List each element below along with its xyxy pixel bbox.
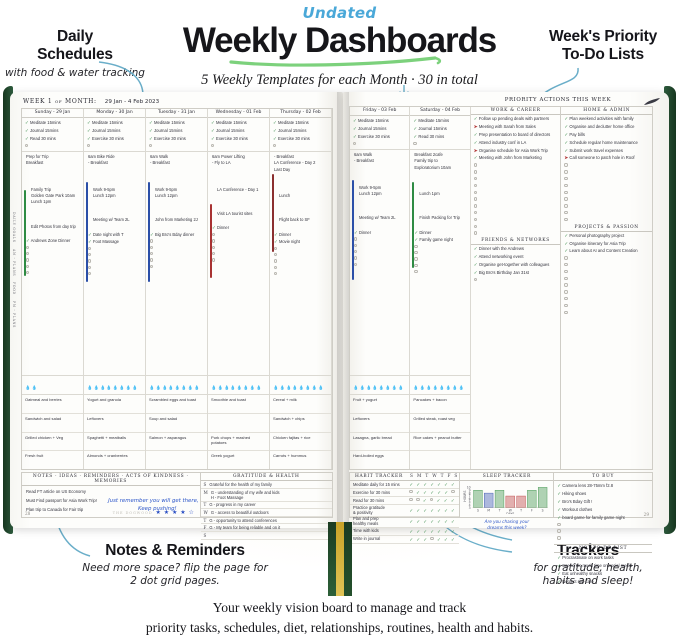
meal-lunch[interactable]: Soup and salad	[146, 414, 207, 433]
water-drop-icon[interactable]: 💧	[224, 385, 229, 390]
empty-checkbox[interactable]	[557, 536, 560, 539]
day-column[interactable]: Saturday - 04 Feb✓ Meditate 15mins✓ Jour…	[410, 107, 470, 469]
water-drop-icon[interactable]: 💧	[230, 385, 235, 390]
schedule-event-pm[interactable]: Finish Packing for Trip	[419, 215, 465, 221]
check-icon[interactable]: ✓	[416, 482, 420, 488]
empty-checkbox[interactable]	[474, 184, 477, 187]
check-icon[interactable]: ✓	[416, 508, 420, 514]
water-tracker[interactable]: 💧💧💧💧💧💧💧💧	[410, 376, 469, 395]
empty-checkbox[interactable]	[274, 272, 277, 275]
water-drop-icon[interactable]: 💧	[211, 385, 216, 390]
list-item[interactable]: ✓ board game for family game night	[557, 514, 649, 522]
water-drop-icon[interactable]: 💧	[217, 385, 222, 390]
empty-checkbox[interactable]	[88, 266, 91, 269]
day-column[interactable]: Monday - 30 Jan✓ Meditate 15mins✓ Journa…	[84, 109, 146, 469]
meal-dinner[interactable]: Salmon + asparagus	[146, 433, 207, 452]
empty-checkbox[interactable]	[414, 270, 417, 273]
empty-checkbox[interactable]	[474, 170, 477, 173]
evening-item-empty[interactable]	[212, 257, 265, 263]
goal-item[interactable]: ✓ Exercise 30 mins	[149, 135, 204, 143]
list-item[interactable]: ✓ Attend networking event	[474, 253, 558, 261]
empty-checkbox[interactable]	[150, 252, 153, 255]
list-item[interactable]: ✓ Neglect self-care	[557, 578, 649, 586]
list-body[interactable]: ✓ Follow up pending deals with partners➤…	[471, 115, 561, 237]
not-todo-items[interactable]: ✓ Procrastinate on work tasks✓ Spend too…	[554, 553, 652, 586]
day-column[interactable]: Wednesday - 01 Feb✓ Meditate 15mins✓ Jou…	[208, 109, 270, 469]
water-tracker[interactable]: 💧💧	[22, 376, 83, 395]
check-icon[interactable]: ✓	[430, 529, 434, 535]
empty-checkbox[interactable]	[474, 225, 477, 228]
check-icon[interactable]: ✓	[451, 482, 455, 488]
empty-checkbox[interactable]	[414, 257, 417, 260]
water-drop-icon[interactable]: 💧	[250, 385, 255, 390]
empty-checkbox[interactable]	[564, 184, 567, 187]
habit-marks[interactable]: ✓✓✓✓✓✓✓	[408, 482, 457, 488]
list-item-empty[interactable]	[564, 210, 649, 217]
day-schedule[interactable]: 6am Walk- BreakfastWork 9-5pmLunch 12pmJ…	[146, 152, 207, 376]
water-drop-icon[interactable]: 💧	[132, 385, 137, 390]
list-item-empty[interactable]	[474, 276, 558, 283]
list-item[interactable]: ➤ Organise schedule for Asia Work Trip	[474, 147, 558, 155]
evening-item-empty[interactable]	[88, 271, 141, 277]
empty-checkbox[interactable]	[354, 250, 357, 253]
side-tab-pm-plans[interactable]: PM - PLANS	[12, 301, 16, 328]
empty-checkbox[interactable]	[354, 244, 357, 247]
empty-checkbox[interactable]	[26, 246, 29, 249]
water-tracker[interactable]: 💧💧💧💧💧💧💧💧	[350, 376, 409, 395]
list-item-empty[interactable]	[474, 162, 558, 169]
list-item[interactable]: ✓ Follow up pending deals with partners	[474, 115, 558, 123]
check-icon[interactable]: ✓	[423, 529, 427, 535]
goal-item[interactable]: ✓ Journal 15mins	[211, 127, 266, 135]
water-drop-icon[interactable]: 💧	[93, 385, 98, 390]
gratitude-row[interactable]: WG - access to beautiful outdoors	[201, 509, 332, 517]
water-drop-icon[interactable]: 💧	[385, 385, 390, 390]
water-drop-icon[interactable]: 💧	[162, 385, 167, 390]
list-item-empty[interactable]	[564, 162, 649, 169]
empty-checkbox[interactable]	[212, 233, 215, 236]
day-column[interactable]: Thursday - 02 Feb✓ Meditate 15mins✓ Jour…	[270, 109, 332, 469]
goal-item[interactable]: ✓ Journal 15mins	[25, 127, 80, 135]
empty-checkbox[interactable]	[564, 256, 567, 259]
list-item-empty[interactable]	[557, 528, 649, 535]
water-drop-icon[interactable]: 💧	[312, 385, 317, 390]
empty-checkbox[interactable]	[564, 218, 567, 221]
empty-checkbox[interactable]	[564, 297, 567, 300]
empty-checkbox[interactable]	[564, 263, 567, 266]
schedule-event[interactable]: LA Conference - Day 1	[217, 187, 265, 193]
water-drop-icon[interactable]: 💧	[413, 385, 418, 390]
goal-item[interactable]: ✓ Meditate 15mins	[87, 119, 142, 127]
habit-marks[interactable]: ✓✓✓✓	[408, 498, 457, 504]
water-drop-icon[interactable]: 💧	[175, 385, 180, 390]
evening-item[interactable]: ✓ Big Bro's Bday dinner	[150, 231, 203, 238]
goal-item[interactable]: ✓ Meditate 15mins	[353, 117, 406, 125]
list-item-empty[interactable]	[474, 230, 558, 237]
list-item-empty[interactable]	[564, 262, 649, 269]
empty-checkbox[interactable]	[274, 253, 277, 256]
goal-item[interactable]: ✓ Meditate 15mins	[149, 119, 204, 127]
meals-block[interactable]: Cereal + milkSandwich + chipsChicken faj…	[270, 395, 331, 469]
water-tracker[interactable]: 💧💧💧💧💧💧💧💧	[146, 376, 207, 395]
list-item[interactable]: ✓ Prep presentation to board of director…	[474, 131, 558, 139]
goal-item[interactable]: ✓ Exercise 30 mins	[87, 135, 142, 143]
gratitude-row[interactable]: FG - My team for being reliable and on i…	[201, 524, 332, 532]
empty-checkbox[interactable]	[474, 197, 477, 200]
empty-checkbox[interactable]	[88, 259, 91, 262]
empty-checkbox[interactable]	[150, 258, 153, 261]
daily-goals[interactable]: ✓ Meditate 15mins✓ Journal 15mins✓ Exerc…	[208, 118, 269, 152]
daily-goals[interactable]: ✓ Meditate 15mins✓ Journal 15mins✓ Exerc…	[146, 118, 207, 152]
empty-checkbox[interactable]	[274, 259, 277, 262]
empty-checkbox[interactable]	[430, 498, 433, 501]
check-icon[interactable]: ✓	[451, 537, 455, 543]
check-icon[interactable]: ✓	[444, 482, 448, 488]
check-icon[interactable]: ✓	[423, 519, 427, 525]
water-tracker[interactable]: 💧💧💧💧💧💧💧💧	[208, 376, 269, 395]
list-item-empty[interactable]	[564, 169, 649, 176]
water-drop-icon[interactable]: 💧	[188, 385, 193, 390]
goal-item[interactable]: ✓ Journal 15mins	[273, 127, 328, 135]
empty-checkbox[interactable]	[26, 258, 29, 261]
meal-dinner[interactable]: Chicken fajitas + rice	[270, 433, 331, 452]
meals-block[interactable]: Smoothie and toastPork chops + mashed po…	[208, 395, 269, 469]
water-drop-icon[interactable]: 💧	[106, 385, 111, 390]
meal-lunch[interactable]: Grilled steak, roast veg	[410, 414, 469, 433]
list-item[interactable]: ✓ Meeting with John from Marketing	[474, 154, 558, 162]
empty-checkbox[interactable]	[414, 251, 417, 254]
list-item[interactable]: ✓ Organise and declutter home office	[564, 123, 649, 131]
meal-breakfast[interactable]: Cereal + milk	[270, 395, 331, 414]
evening-item-empty[interactable]	[274, 271, 327, 277]
empty-checkbox[interactable]	[474, 231, 477, 234]
meal-snack[interactable]: Greek yogurt	[208, 451, 269, 469]
check-icon[interactable]: ✓	[437, 537, 441, 543]
check-icon[interactable]: ✓	[409, 529, 413, 535]
list-item[interactable]: ✓ Hiking shoes	[557, 490, 649, 498]
empty-checkbox[interactable]	[88, 247, 91, 250]
schedule-event-pm[interactable]: John from Marketing 2J	[155, 217, 203, 223]
empty-checkbox[interactable]	[564, 191, 567, 194]
check-icon[interactable]: ✓	[444, 519, 448, 525]
day-schedule[interactable]: 6am Power Lifting- Fly to LALA Conferenc…	[208, 152, 269, 376]
goal-item-empty[interactable]	[413, 141, 466, 148]
habit-marks[interactable]: ✓✓✓✓✓✓✓	[408, 519, 457, 525]
empty-checkbox[interactable]	[564, 177, 567, 180]
meal-lunch[interactable]: Leftovers	[350, 414, 409, 433]
water-drop-icon[interactable]: 💧	[318, 385, 323, 390]
meal-breakfast[interactable]: Oatmeal and berries	[22, 395, 83, 414]
gratitude-text[interactable]: Grateful for the health of my family	[209, 482, 272, 487]
water-drop-icon[interactable]: 💧	[353, 385, 358, 390]
water-drop-icon[interactable]: 💧	[305, 385, 310, 390]
water-drop-icon[interactable]: 💧	[420, 385, 425, 390]
gratitude-row[interactable]: S	[201, 532, 332, 540]
meal-snack[interactable]	[410, 451, 469, 469]
list-item-empty[interactable]	[474, 203, 558, 210]
gratitude-rows[interactable]: SGrateful for the health of my familyMG …	[201, 481, 332, 539]
meal-snack[interactable]: Fresh fruit	[22, 451, 83, 469]
empty-checkbox[interactable]	[413, 142, 416, 145]
day-schedule[interactable]: - BreakfastLA Conference - Day 2Last Day…	[270, 152, 331, 376]
evening-item[interactable]: ✓ Dinner	[354, 229, 405, 236]
note-line[interactable]: Read FT article on US Economy	[26, 488, 196, 497]
habit-row[interactable]: Exercise for 30 mins✓✓✓✓✓	[350, 489, 459, 497]
empty-checkbox[interactable]	[564, 270, 567, 273]
meal-dinner[interactable]: Lasagna, garlic bread	[350, 433, 409, 452]
empty-checkbox[interactable]	[354, 237, 357, 240]
goal-item[interactable]: ✓ Meditate 15mins	[413, 117, 466, 125]
gratitude-row[interactable]: TG - opportunity to attend conferences	[201, 517, 332, 525]
empty-checkbox[interactable]	[557, 523, 560, 526]
daily-goals[interactable]: ✓ Meditate 15mins✓ Journal 15mins✓ Exerc…	[270, 118, 331, 152]
meal-breakfast[interactable]: Fruit + yogurt	[350, 395, 409, 414]
empty-checkbox[interactable]	[564, 204, 567, 207]
empty-checkbox[interactable]	[212, 258, 215, 261]
goal-item[interactable]: ✓ Exercise 30 mins	[353, 133, 406, 141]
list-item-empty[interactable]	[557, 521, 649, 528]
evening-item[interactable]: ✓ Dinner	[414, 229, 465, 236]
side-tab-daily-goals[interactable]: DAILY GOALS	[12, 212, 16, 243]
list-item-empty[interactable]	[474, 183, 558, 190]
meal-lunch[interactable]: Leftovers	[84, 414, 145, 433]
list-item-empty[interactable]	[557, 535, 649, 542]
goal-item[interactable]: ✓ Meditate 15mins	[25, 119, 80, 127]
meal-snack[interactable]: Carrots + hummus	[270, 451, 331, 469]
empty-checkbox[interactable]	[212, 246, 215, 249]
side-tab-food[interactable]: FOOD	[12, 282, 16, 295]
water-drop-icon[interactable]: 💧	[379, 385, 384, 390]
empty-checkbox[interactable]	[474, 211, 477, 214]
check-icon[interactable]: ✓	[416, 537, 420, 543]
day-column[interactable]: Sunday - 29 Jan✓ Meditate 15mins✓ Journa…	[22, 109, 84, 469]
goal-item[interactable]: ✓ Exercise 30 mins	[273, 135, 328, 143]
sleep-tracker-chart[interactable]: 345678910SMTWTFSDAYSHOURS	[460, 481, 553, 514]
meal-dinner[interactable]: Pork chops + mashed potatoes	[208, 433, 269, 452]
day-column[interactable]: Tuesday - 31 Jan✓ Meditate 15mins✓ Journ…	[146, 109, 208, 469]
empty-checkbox[interactable]	[474, 163, 477, 166]
empty-checkbox[interactable]	[564, 170, 567, 173]
gratitude-text[interactable]: G - My team for being reliable and on it	[209, 525, 280, 530]
water-drop-icon[interactable]: 💧	[446, 385, 451, 390]
check-icon[interactable]: ✓	[437, 508, 441, 514]
empty-checkbox[interactable]	[212, 252, 215, 255]
water-drop-icon[interactable]: 💧	[392, 385, 397, 390]
list-item-empty[interactable]	[474, 169, 558, 176]
gratitude-text[interactable]: G - access to beautiful outdoors	[211, 510, 269, 515]
empty-checkbox[interactable]	[416, 498, 419, 501]
empty-checkbox[interactable]	[353, 142, 356, 145]
water-drop-icon[interactable]: 💧	[459, 385, 464, 390]
list-item[interactable]: ✓ Organise get-together with colleagues	[474, 261, 558, 269]
check-icon[interactable]: ✓	[437, 529, 441, 535]
water-drop-icon[interactable]: 💧	[452, 385, 457, 390]
water-drop-icon[interactable]: 💧	[25, 385, 30, 390]
water-drop-icon[interactable]: 💧	[181, 385, 186, 390]
gratitude-text[interactable]: G - opportunity to attend conferences	[209, 518, 277, 523]
list-item[interactable]: ✓ Submit work travel expenses	[564, 147, 649, 155]
list-item-empty[interactable]	[564, 282, 649, 289]
empty-checkbox[interactable]	[564, 283, 567, 286]
goal-item[interactable]: ✓ Meditate 15mins	[273, 119, 328, 127]
empty-checkbox[interactable]	[274, 247, 277, 250]
evening-item[interactable]: ✓ Family game night	[414, 236, 465, 243]
list-item[interactable]: ➤ Meeting with Sarah from Sales	[474, 123, 558, 131]
check-icon[interactable]: ✓	[444, 508, 448, 514]
daily-goals[interactable]: ✓ Meditate 15mins✓ Journal 15mins✓ Exerc…	[350, 116, 409, 150]
day-column[interactable]: Friday - 03 Feb✓ Meditate 15mins✓ Journa…	[350, 107, 410, 469]
check-icon[interactable]: ✓	[423, 508, 427, 514]
evening-item-empty[interactable]	[414, 269, 465, 275]
check-icon[interactable]: ✓	[423, 498, 427, 504]
water-drop-icon[interactable]: 💧	[426, 385, 431, 390]
evening-item-empty[interactable]	[354, 261, 405, 267]
goal-item[interactable]: ✓ Read 30 mins	[25, 135, 80, 143]
list-item-empty[interactable]	[564, 275, 649, 282]
goal-item-empty[interactable]	[149, 143, 204, 150]
check-icon[interactable]: ✓	[437, 519, 441, 525]
meals-block[interactable]: Pancakes + baconGrilled steak, roast veg…	[410, 395, 469, 469]
habit-row[interactable]: Meditate daily for 15 mins✓✓✓✓✓✓✓	[350, 481, 459, 489]
list-item-empty[interactable]	[474, 176, 558, 183]
empty-checkbox[interactable]	[474, 278, 477, 281]
water-drop-icon[interactable]: 💧	[168, 385, 173, 390]
check-icon[interactable]: ✓	[444, 529, 448, 535]
evening-item[interactable]: ✓ Date night with T	[88, 231, 141, 238]
side-tab-am-plans[interactable]: AM - PLANS	[12, 249, 16, 276]
evening-item[interactable]: ✓ Foot Massage	[88, 238, 141, 245]
empty-checkbox[interactable]	[414, 245, 417, 248]
empty-checkbox[interactable]	[26, 252, 29, 255]
water-drop-icon[interactable]: 💧	[194, 385, 199, 390]
empty-checkbox[interactable]	[211, 144, 214, 147]
empty-checkbox[interactable]	[564, 311, 567, 314]
empty-checkbox[interactable]	[451, 490, 454, 493]
check-icon[interactable]: ✓	[423, 537, 427, 543]
list-item[interactable]: ✓ Personal photography project	[564, 232, 649, 240]
list-item-empty[interactable]	[474, 223, 558, 230]
list-item-empty[interactable]	[564, 303, 649, 310]
gratitude-text[interactable]: G - progress in my career	[209, 502, 255, 507]
day-schedule[interactable]: 6am Bike Ride- BreakfastWork 9-5pmLunch …	[84, 152, 145, 376]
water-drop-icon[interactable]: 💧	[149, 385, 154, 390]
water-drop-icon[interactable]: 💧	[243, 385, 248, 390]
meal-lunch[interactable]: Sandwich and salad	[22, 414, 83, 433]
empty-checkbox[interactable]	[212, 239, 215, 242]
day-schedule[interactable]: 6am Walk- BreakfastWork 9-5pmLunch 12pmM…	[350, 150, 409, 376]
check-icon[interactable]: ✓	[416, 490, 420, 496]
water-drop-icon[interactable]: 💧	[256, 385, 261, 390]
check-icon[interactable]: ✓	[416, 519, 420, 525]
evening-item[interactable]: ✓ Movie night	[274, 238, 327, 245]
meal-breakfast[interactable]: Pancakes + bacon	[410, 395, 469, 414]
evening-item[interactable]: ✓ Dinner	[274, 231, 327, 238]
meal-dinner[interactable]: Rice cakes + peanut butter	[410, 433, 469, 452]
list-item[interactable]: ✓ Spend too much time on social media	[557, 562, 649, 570]
empty-checkbox[interactable]	[354, 256, 357, 259]
list-item-empty[interactable]	[564, 296, 649, 303]
meal-snack[interactable]: Hard-boiled eggs	[350, 451, 409, 469]
water-drop-icon[interactable]: 💧	[279, 385, 284, 390]
water-tracker[interactable]: 💧💧💧💧💧💧💧💧	[84, 376, 145, 395]
day-schedule[interactable]: Prep for TripBreakfastFamily TripGolden …	[22, 152, 83, 376]
goal-item-empty[interactable]	[211, 143, 266, 150]
empty-checkbox[interactable]	[564, 197, 567, 200]
empty-checkbox[interactable]	[564, 277, 567, 280]
list-item-empty[interactable]	[564, 183, 649, 190]
gratitude-row[interactable]: MG - understanding of my wife and kids H…	[201, 489, 332, 502]
gratitude-row[interactable]: SGrateful for the health of my family	[201, 481, 332, 489]
meals-block[interactable]: Yogurt and granolaLeftoversSpaghetti + m…	[84, 395, 145, 469]
evening-item-empty[interactable]	[26, 270, 79, 276]
empty-checkbox[interactable]	[564, 304, 567, 307]
water-drop-icon[interactable]: 💧	[286, 385, 291, 390]
habit-tracker-rows[interactable]: Meditate daily for 15 mins✓✓✓✓✓✓✓Exercis…	[350, 481, 459, 544]
check-icon[interactable]: ✓	[430, 519, 434, 525]
meal-snack[interactable]: Almonds + cranberries	[84, 451, 145, 469]
empty-checkbox[interactable]	[474, 218, 477, 221]
meal-breakfast[interactable]: Smoothie and toast	[208, 395, 269, 414]
check-icon[interactable]: ✓	[423, 482, 427, 488]
check-icon[interactable]: ✓	[451, 498, 455, 504]
habit-row[interactable]: Time with kids✓✓✓✓✓✓✓	[350, 528, 459, 536]
empty-checkbox[interactable]	[557, 529, 560, 532]
goal-item-empty[interactable]	[353, 141, 406, 148]
list-item[interactable]: ✓ Attend industry conf in LA	[474, 139, 558, 147]
list-item-empty[interactable]	[564, 289, 649, 296]
habit-marks[interactable]: ✓✓✓✓✓	[408, 490, 457, 496]
habit-row[interactable]: Plan and prep healthy meals✓✓✓✓✓✓✓	[350, 517, 459, 528]
week-dates[interactable]: 29 Jan - 4 Feb 2023	[105, 99, 159, 105]
empty-checkbox[interactable]	[474, 177, 477, 180]
empty-checkbox[interactable]	[87, 144, 90, 147]
check-icon[interactable]: ✓	[430, 482, 434, 488]
check-icon[interactable]: ✓	[430, 508, 434, 514]
empty-checkbox[interactable]	[564, 290, 567, 293]
meal-lunch[interactable]	[208, 414, 269, 433]
list-body[interactable]: ✓ Plan weekend activities with family✓ O…	[561, 115, 652, 223]
rating-stars[interactable]: ★ ★ ★ ★ ☆	[156, 509, 195, 516]
meal-snack[interactable]	[146, 451, 207, 469]
goal-item[interactable]: ✓ Journal 15mins	[87, 127, 142, 135]
habit-marks[interactable]: ✓✓✓✓✓✓✓	[408, 529, 457, 535]
empty-checkbox[interactable]	[88, 272, 91, 275]
water-drop-icon[interactable]: 💧	[372, 385, 377, 390]
list-item-empty[interactable]	[564, 309, 649, 316]
list-body[interactable]: ✓ Personal photography project✓ Organise…	[561, 232, 652, 317]
water-drop-icon[interactable]: 💧	[273, 385, 278, 390]
list-item[interactable]: ✓ Big Bro's Birthday Jan 31st	[474, 269, 558, 277]
empty-checkbox[interactable]	[354, 263, 357, 266]
empty-checkbox[interactable]	[150, 239, 153, 242]
check-icon[interactable]: ✓	[423, 490, 427, 496]
water-drop-icon[interactable]: 💧	[119, 385, 124, 390]
goal-item[interactable]: ✓ Exercise 30 mins	[211, 135, 266, 143]
check-icon[interactable]: ✓	[409, 519, 413, 525]
meal-breakfast[interactable]: Yogurt and granola	[84, 395, 145, 414]
habit-row[interactable]: Practice gratitude & positivity✓✓✓✓✓✓✓	[350, 505, 459, 516]
empty-checkbox[interactable]	[273, 144, 276, 147]
empty-checkbox[interactable]	[474, 204, 477, 207]
list-item-empty[interactable]	[564, 176, 649, 183]
list-item-empty[interactable]	[474, 217, 558, 224]
water-drop-icon[interactable]: 💧	[359, 385, 364, 390]
list-body[interactable]: ✓ Dinner with the Andrews✓ Attend networ…	[471, 245, 561, 283]
meal-dinner[interactable]: Grilled chicken + Veg	[22, 433, 83, 452]
empty-checkbox[interactable]	[564, 211, 567, 214]
check-icon[interactable]: ✓	[444, 490, 448, 496]
check-icon[interactable]: ✓	[437, 498, 441, 504]
